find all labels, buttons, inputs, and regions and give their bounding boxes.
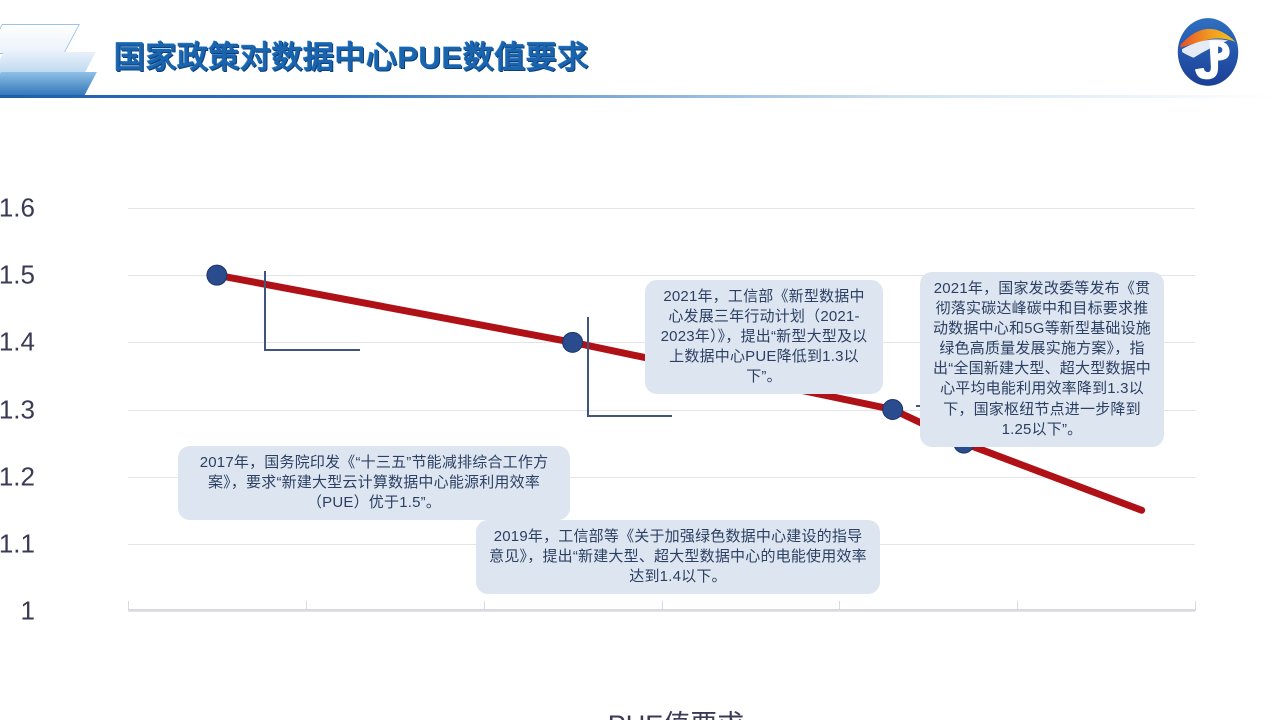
- decoration-bar-middle: [0, 52, 96, 74]
- x-axis-tick: [306, 601, 307, 611]
- company-logo-icon: [1172, 16, 1244, 88]
- y-axis-tick-label: 1: [0, 596, 35, 627]
- slide-header: 国家政策对数据中心PUE数值要求: [0, 0, 1280, 108]
- y-axis-tick-label: 1.4: [0, 327, 35, 358]
- legend-label: PUE值要求: [608, 703, 745, 720]
- x-axis-tick: [1195, 601, 1196, 611]
- slide: 国家政策对数据中心PUE数值要求: [0, 0, 1280, 720]
- decoration-bar-top: [0, 24, 80, 54]
- x-axis-tick: [662, 601, 663, 611]
- x-axis-tick: [1017, 601, 1018, 611]
- x-axis-tick: [484, 601, 485, 611]
- x-axis-tick: [128, 601, 129, 611]
- y-axis-tick-label: 1.1: [0, 528, 35, 559]
- pue-line-chart: 1.61.51.41.31.21.11201720182019202020212…: [0, 108, 1280, 720]
- x-axis-tick: [839, 601, 840, 611]
- y-axis-tick-label: 1.5: [0, 260, 35, 291]
- page-title: 国家政策对数据中心PUE数值要求: [114, 32, 589, 77]
- y-axis-tick-label: 1.6: [0, 193, 35, 224]
- header-divider: [0, 95, 1280, 98]
- y-axis-tick-label: 1.3: [0, 394, 35, 425]
- callout-2021-ndrc: 2021年，国家发改委等发布《贯彻落实碳达峰碳中和目标要求推动数据中心和5G等新…: [920, 272, 1164, 447]
- gridline: [128, 611, 1195, 612]
- callout-2019: 2019年，工信部等《关于加强绿色数据中心建设的指导意见》，提出“新建大型、超大…: [476, 520, 880, 594]
- callout-2017: 2017年，国务院印发《“十三五”节能减排综合工作方案》，要求“新建大型云计算数…: [178, 446, 570, 520]
- callout-2021-miit: 2021年，工信部《新型数据中心发展三年行动计划（2021-2023年）》，提出…: [645, 280, 883, 394]
- header-decoration-icon: [0, 22, 114, 96]
- y-axis-tick-label: 1.2: [0, 461, 35, 492]
- chart-legend: PUE值要求: [0, 703, 1280, 720]
- gridline: [128, 208, 1195, 209]
